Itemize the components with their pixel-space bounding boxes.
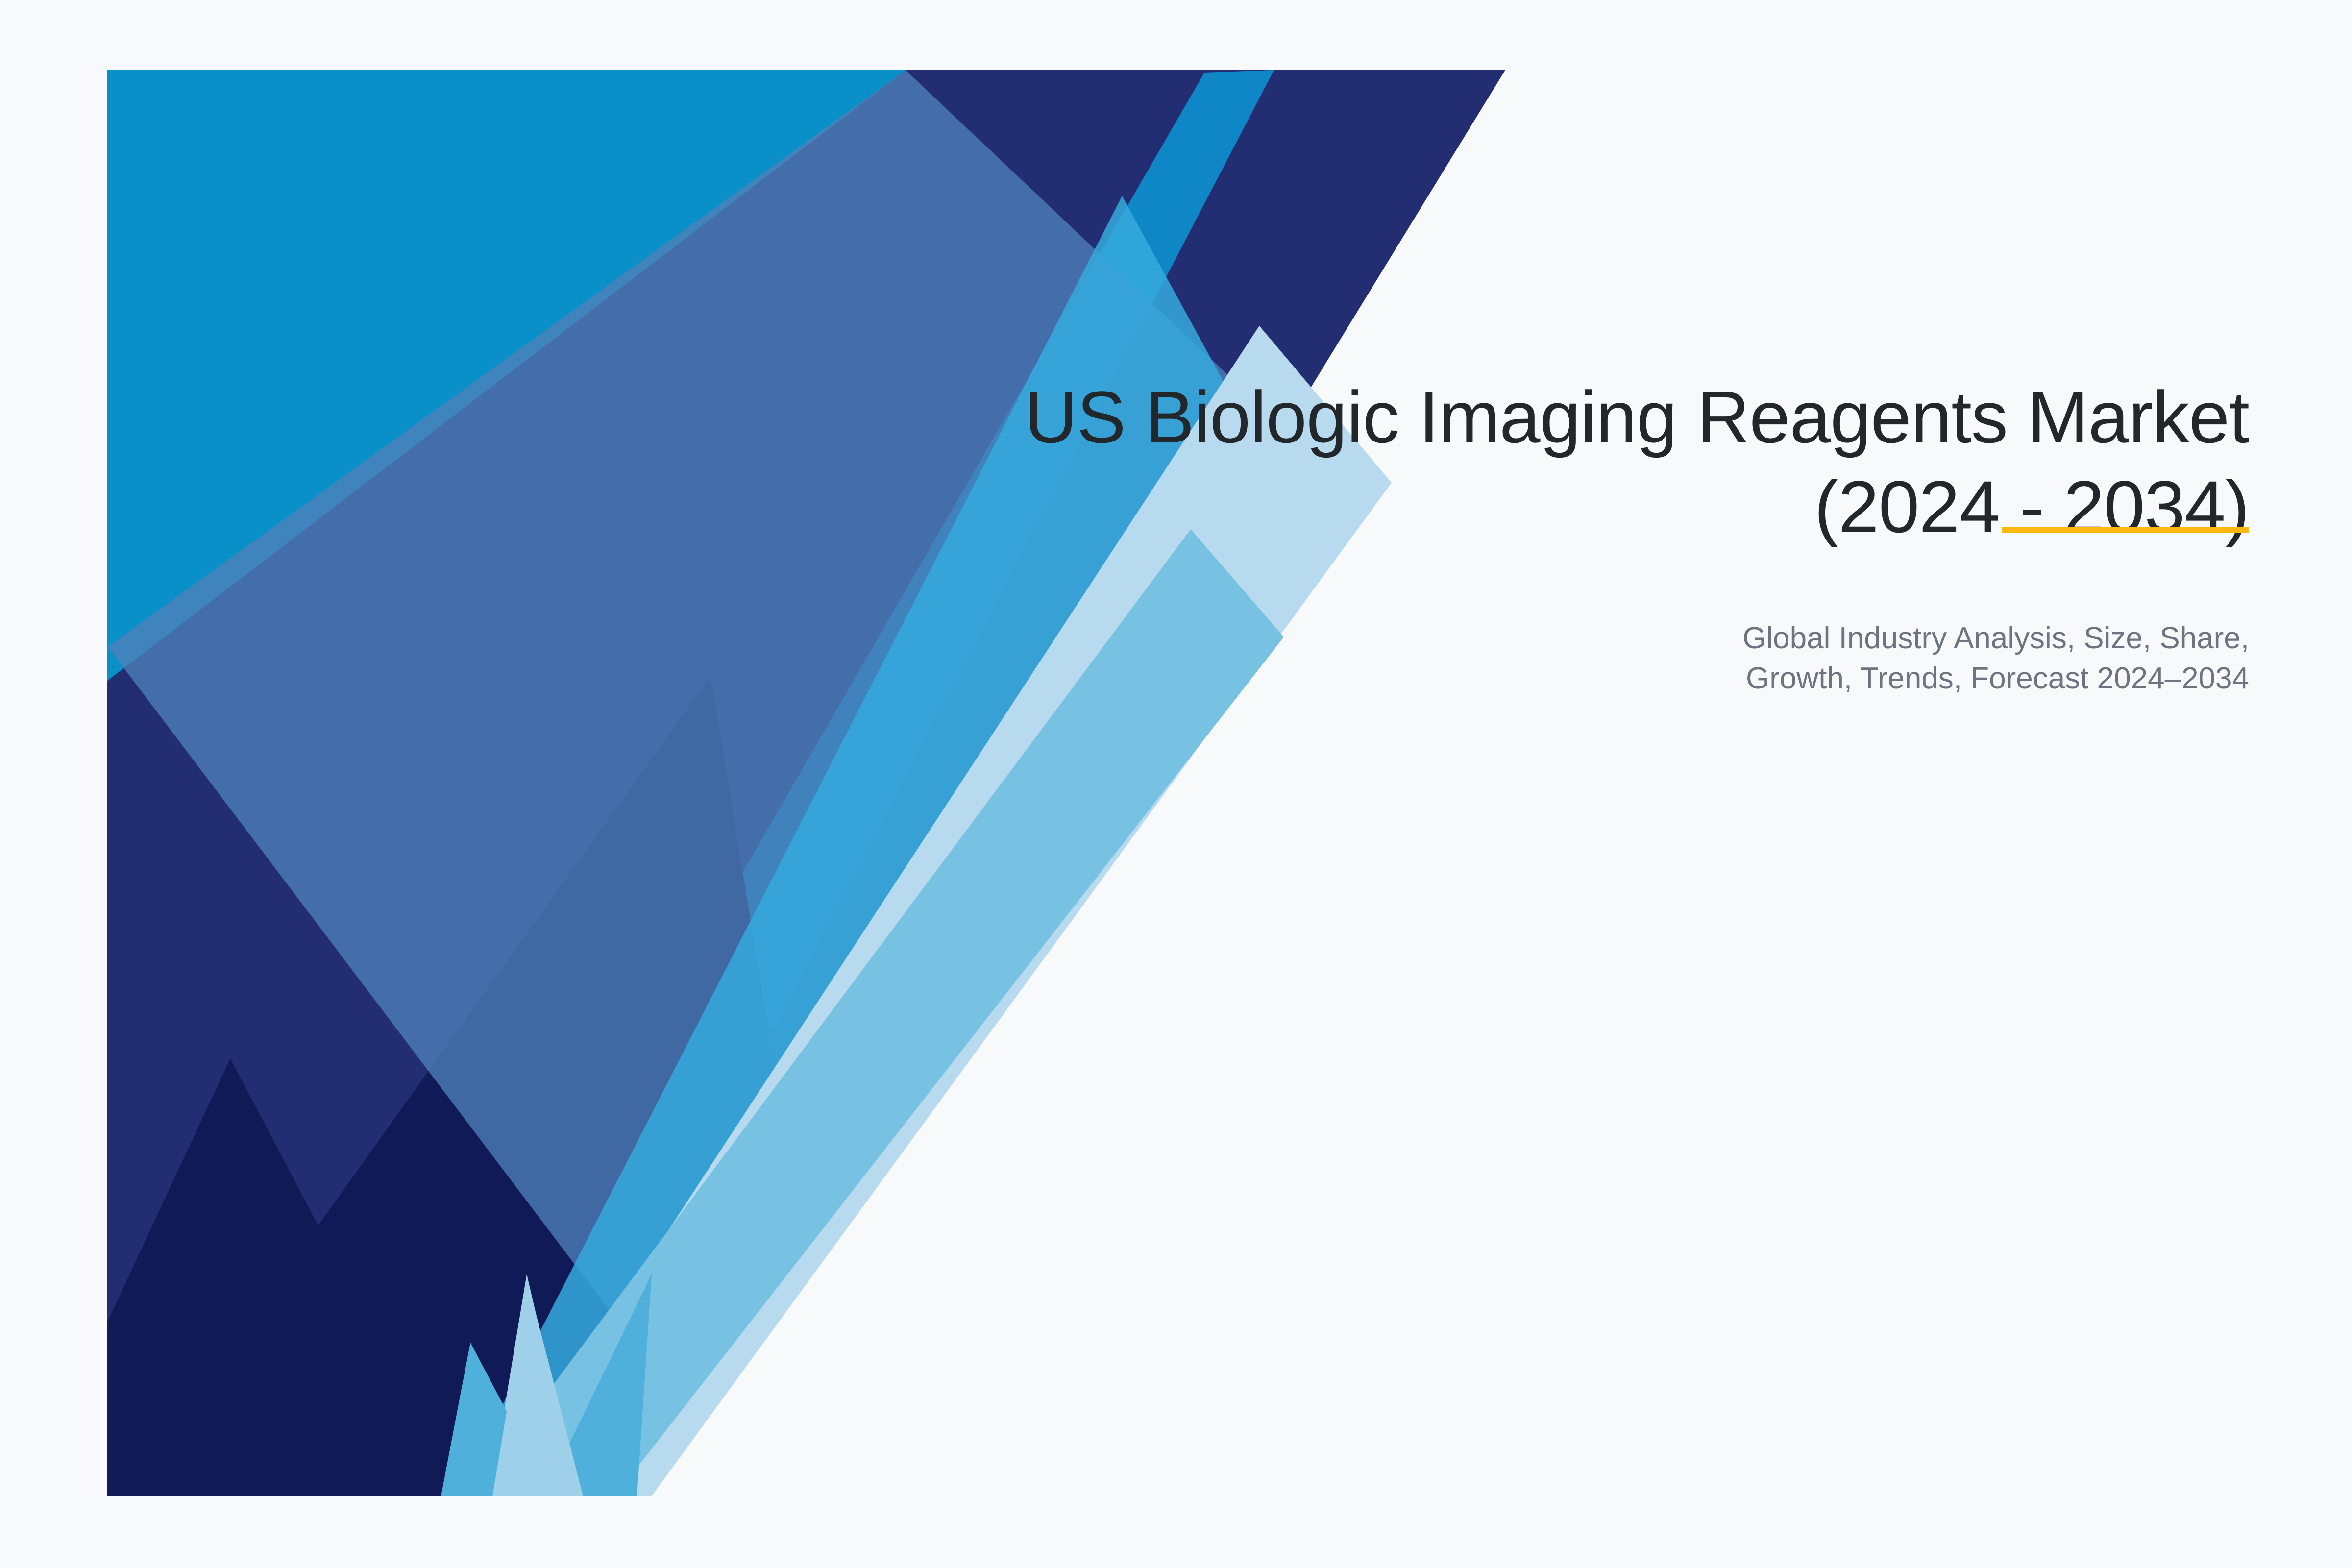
title-accent-underline <box>2002 527 2249 533</box>
page-subtitle: Global Industry Analysis, Size, Share, G… <box>784 618 2249 699</box>
page-title-line-1: US Biologic Imaging Reagents Market <box>784 372 2249 462</box>
cover-text-block: US Biologic Imaging Reagents Market (202… <box>784 372 2249 699</box>
page-title: US Biologic Imaging Reagents Market (202… <box>784 372 2249 552</box>
abstract-geometric-artwork <box>0 0 2352 1568</box>
artwork-svg <box>0 0 2352 1568</box>
cover-page: US Biologic Imaging Reagents Market (202… <box>0 0 2352 1568</box>
page-title-line-2: (2024 - 2034) <box>784 462 2249 552</box>
